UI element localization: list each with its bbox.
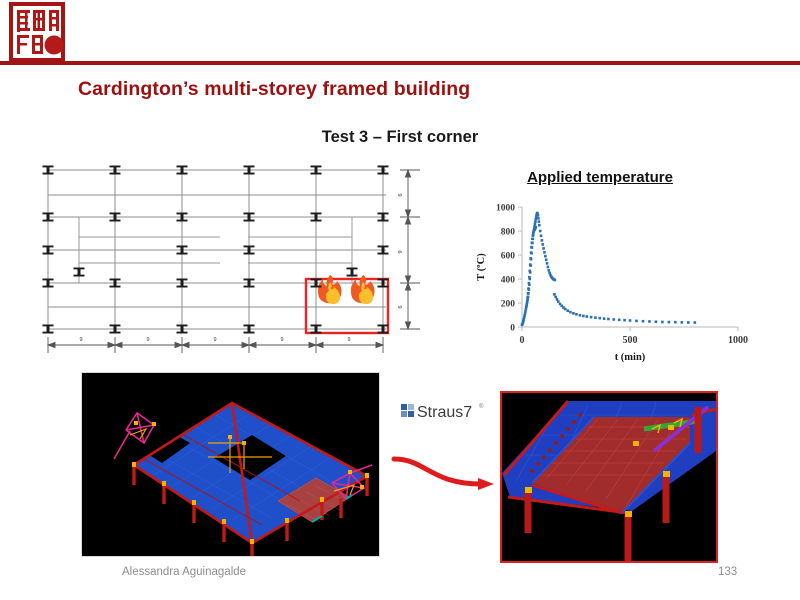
bay-dim-label: 9 (79, 337, 82, 343)
y-tick-label: 400 (501, 276, 516, 286)
x-tick-label: 1000 (728, 335, 748, 346)
bay-dim-label: 9 (347, 337, 350, 343)
chart-series (521, 212, 556, 326)
straus7-trademark: ® (479, 403, 484, 410)
y-tick-label: 200 (501, 300, 516, 310)
chart-plot-area: 0200400600800100005001000t (min)T (ºC) (470, 199, 750, 369)
footer-page-number: 133 (718, 566, 737, 578)
bay-dim-label-vertical: 9 (398, 250, 404, 253)
y-tick-label: 600 (501, 252, 516, 262)
straus7-wordmark: Straus7 (417, 404, 472, 421)
x-tick-label: 0 (520, 335, 525, 346)
chart-series (553, 293, 696, 324)
bay-dim-label: 9 (146, 337, 149, 343)
x-tick-label: 500 (623, 335, 638, 346)
bay-dim-label-vertical: 6 (398, 193, 404, 196)
section-subtitle: Test 3 – First corner (0, 128, 800, 147)
straus7-logo: Straus7 ® (400, 399, 486, 423)
cardington-floor-plan: 9 9 9 9 9 6 9 6 (30, 155, 430, 365)
chinese-seal-logo (8, 2, 66, 64)
bay-dim-label: 9 (213, 337, 216, 343)
transition-arrow (390, 448, 500, 500)
x-axis-label: t (min) (615, 352, 646, 363)
y-tick-label: 800 (501, 228, 516, 238)
page-title: Cardington’s multi-storey framed buildin… (78, 78, 470, 101)
chart-title: Applied temperature (470, 169, 730, 186)
footer-author: Alessandra Aguinagalde (122, 566, 246, 578)
slide-canvas: Cardington’s multi-storey framed buildin… (0, 0, 800, 600)
straus7-corner-detail (500, 391, 718, 563)
bay-dim-label: 9 (280, 337, 283, 343)
y-tick-label: 0 (510, 324, 515, 334)
y-axis-label: T (ºC) (476, 253, 487, 281)
applied-temperature-chart: Applied temperature 02004006008001000050… (470, 165, 770, 365)
straus7-model-overview (81, 372, 380, 557)
header-divider-rule (0, 61, 800, 65)
bay-dim-label-vertical: 6 (398, 305, 404, 308)
straus7-squares-icon (401, 404, 414, 417)
y-tick-label: 1000 (496, 204, 515, 214)
